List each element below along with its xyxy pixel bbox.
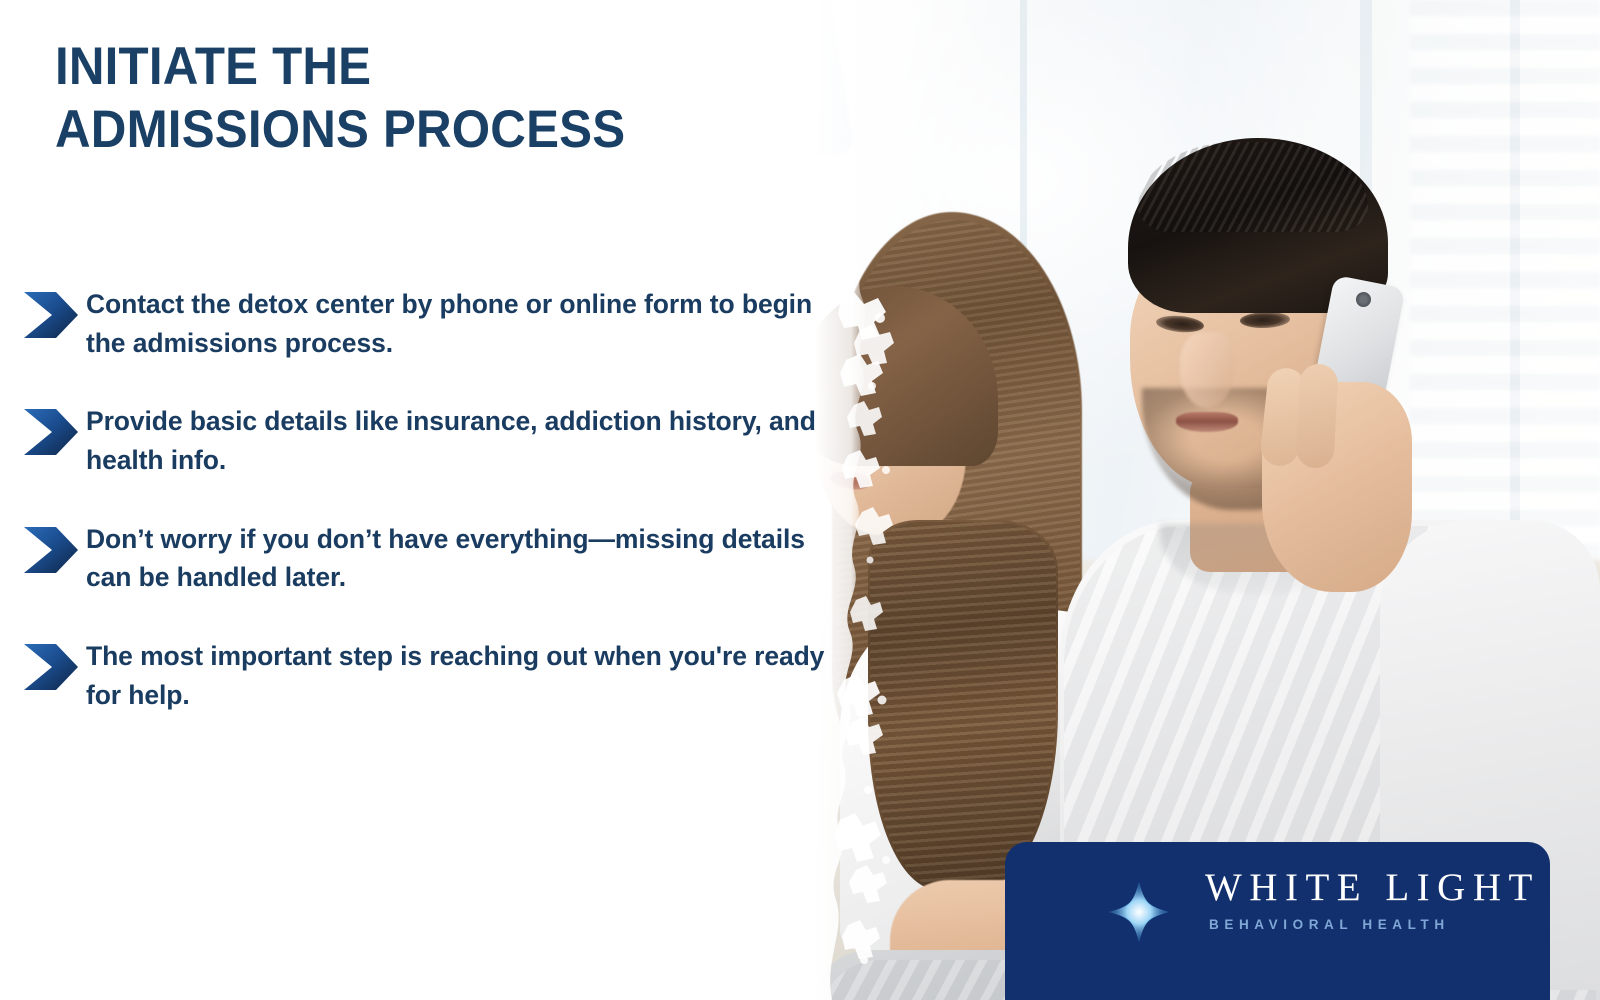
- list-item: Don’t worry if you don’t have everything…: [22, 518, 842, 597]
- brand-name: WHITE LIGHT: [1205, 868, 1540, 907]
- brand-logo-badge: WHITE LIGHT BEHAVIORAL HEALTH: [1005, 842, 1550, 1000]
- list-item-text: Don’t worry if you don’t have everything…: [86, 518, 842, 597]
- starburst-logo-icon: [1087, 860, 1191, 964]
- headline-line-2: ADMISSIONS PROCESS: [55, 99, 706, 162]
- list-item-text: Contact the detox center by phone or onl…: [86, 283, 842, 362]
- list-item: Contact the detox center by phone or onl…: [22, 283, 842, 362]
- man-nose: [1180, 332, 1234, 408]
- brand-tagline: BEHAVIORAL HEALTH: [1209, 918, 1540, 932]
- infographic-slide: INITIATE THE ADMISSIONS PROCESS: [0, 0, 1600, 1000]
- chevron-right-icon: [22, 641, 78, 693]
- chevron-right-icon: [22, 406, 78, 458]
- man-mouth: [1176, 412, 1238, 432]
- man-hair-texture: [1138, 142, 1368, 232]
- headline-line-1: INITIATE THE: [55, 36, 706, 99]
- list-item: Provide basic details like insurance, ad…: [22, 400, 842, 479]
- list-item-text: Provide basic details like insurance, ad…: [86, 400, 842, 479]
- list-item-text: The most important step is reaching out …: [86, 635, 842, 714]
- chevron-right-icon: [22, 524, 78, 576]
- page-title: INITIATE THE ADMISSIONS PROCESS: [55, 36, 706, 161]
- bullet-list: Contact the detox center by phone or onl…: [22, 283, 842, 715]
- text-panel: INITIATE THE ADMISSIONS PROCESS: [0, 0, 860, 1000]
- chevron-right-icon: [22, 289, 78, 341]
- logo-wordmark: WHITE LIGHT BEHAVIORAL HEALTH: [1205, 868, 1540, 932]
- woman-hair-length-strands: [870, 522, 1056, 888]
- list-item: The most important step is reaching out …: [22, 635, 842, 714]
- man-finger: [1295, 363, 1338, 469]
